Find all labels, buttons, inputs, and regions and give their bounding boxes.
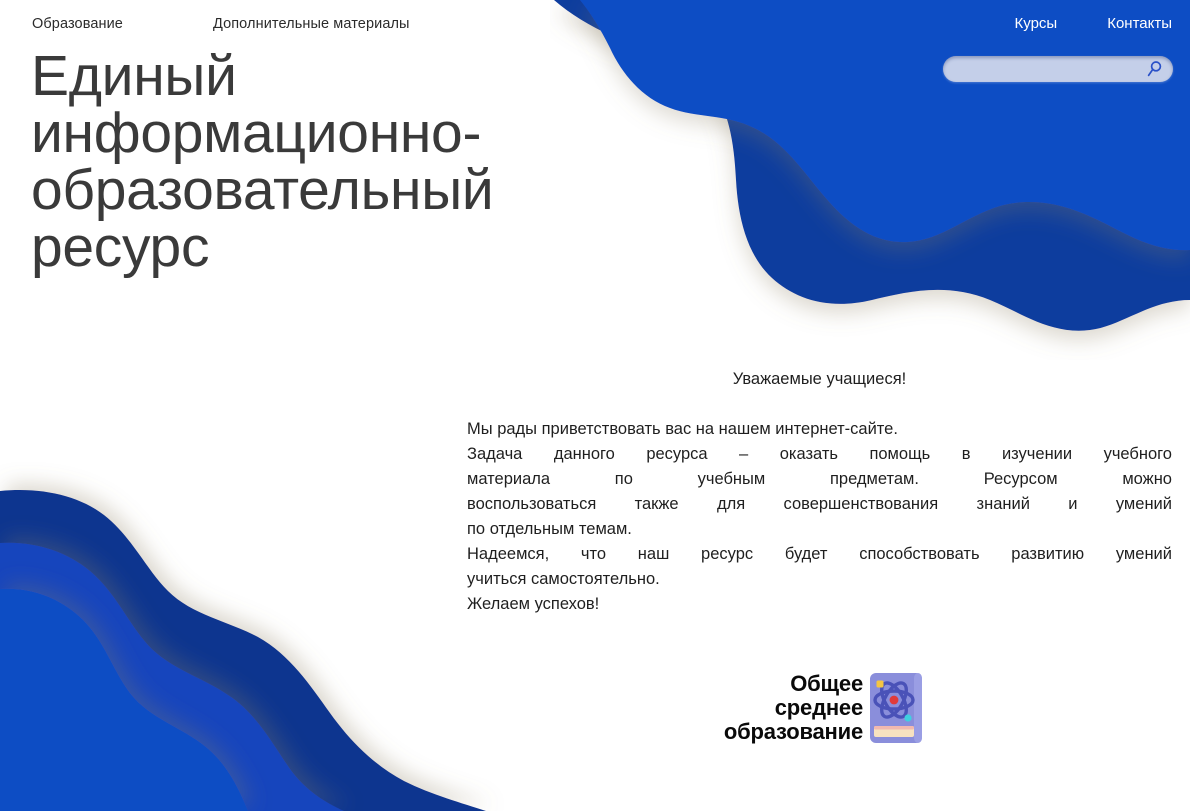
main-content: Уважаемые учащиеся! Мы рады приветствова… [467, 370, 1172, 617]
paragraph-line: Надеемся, что наш ресурс будет способств… [467, 542, 1172, 567]
decorative-waves-top-right [550, 0, 1190, 360]
paragraph-line: Мы рады приветствовать вас на нашем инте… [467, 417, 1172, 442]
page-title: Единый информационно-образовательный рес… [31, 48, 591, 276]
primary-navigation-right: Курсы Контакты [1015, 15, 1173, 32]
nav-link-obrazovanie[interactable]: Образование [32, 16, 123, 32]
logo-text-line-2: среднее [724, 696, 863, 720]
paragraph-line: Задача данного ресурса – оказать помощь … [467, 442, 1172, 467]
search-box[interactable] [943, 56, 1173, 82]
welcome-paragraph: Мы рады приветствовать вас на нашем инте… [467, 417, 1172, 617]
search-icon[interactable] [1146, 60, 1164, 78]
search-input[interactable] [955, 56, 1155, 84]
search-bar [943, 56, 1173, 82]
logo-text: Общее среднее образование [724, 672, 863, 744]
paragraph-line: учиться самостоятельно. [467, 567, 1172, 592]
book-atom-icon [869, 672, 923, 744]
nav-link-kontakty[interactable]: Контакты [1107, 15, 1172, 32]
greeting-text: Уважаемые учащиеся! [467, 370, 1172, 389]
site-logo[interactable]: Общее среднее образование [668, 672, 923, 744]
nav-link-dopolnitelnye-materialy[interactable]: Дополнительные материалы [213, 16, 410, 32]
primary-navigation-left: Образование Дополнительные материалы [32, 16, 410, 32]
paragraph-line: материала по учебным предметам. Ресурсом… [467, 467, 1172, 492]
nav-link-kursy[interactable]: Курсы [1015, 15, 1058, 32]
paragraph-line: Желаем успехов! [467, 592, 1172, 617]
logo-text-line-1: Общее [724, 672, 863, 696]
logo-text-line-3: образование [724, 720, 863, 744]
paragraph-line: воспользоваться также для совершенствова… [467, 492, 1172, 517]
page-root: Образование Дополнительные материалы Кур… [0, 0, 1190, 811]
paragraph-line: по отдельным темам. [467, 517, 1172, 542]
